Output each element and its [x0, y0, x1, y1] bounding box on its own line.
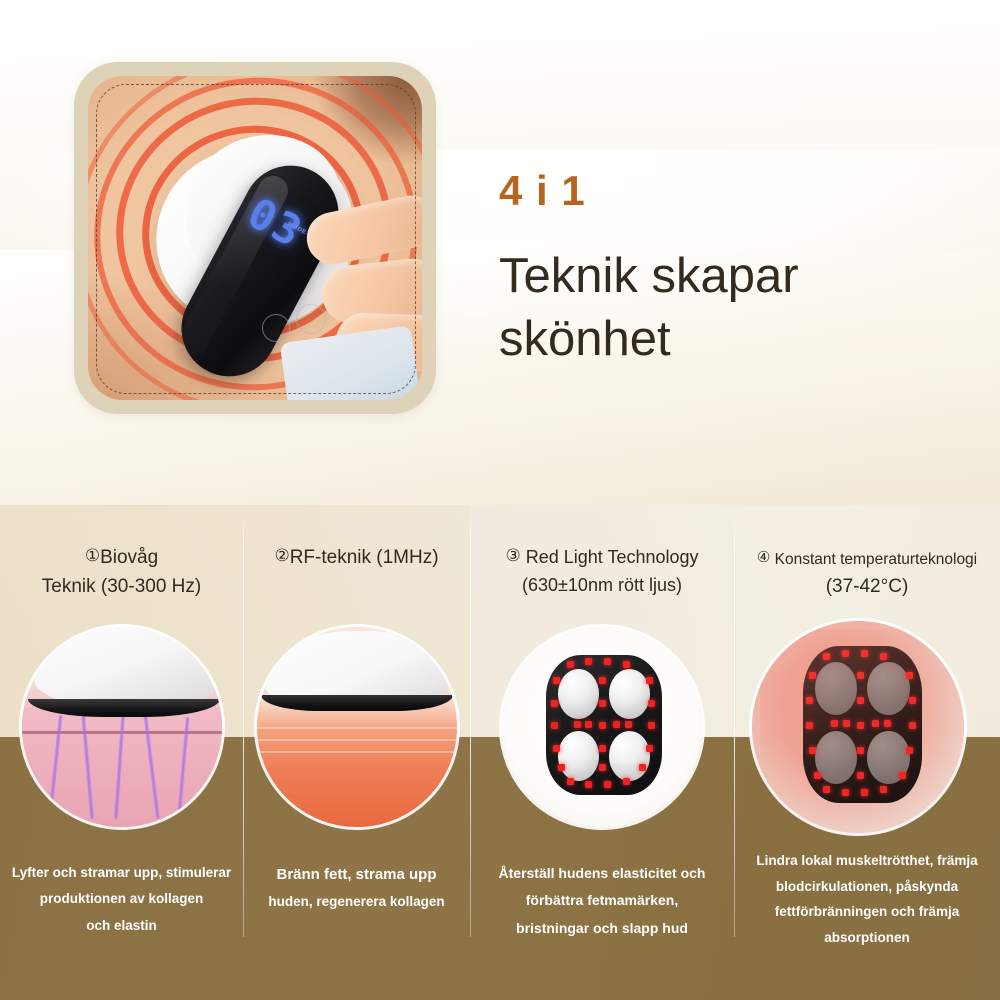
- feature-4-title-line-1: ④ Konstant temperaturteknologi: [740, 546, 994, 572]
- feature-column-1: ①Biovåg Teknik (30-300 Hz) Lyfter och st…: [0, 515, 243, 985]
- warm-tint-overlay: [752, 621, 964, 833]
- red-led-icon: [625, 721, 632, 728]
- feature-3-title: ③ Red Light Technology (630±10nm rött lj…: [470, 515, 734, 600]
- red-led-icon: [551, 700, 558, 707]
- feature-column-4: ④ Konstant temperaturteknologi (37-42°C): [734, 515, 1000, 985]
- red-led-icon: [574, 721, 581, 728]
- red-led-icon: [604, 658, 611, 665]
- heat-ray-line: [257, 751, 457, 753]
- caption-line: Bränn fett, strama upp: [243, 860, 470, 889]
- red-led-icon: [553, 745, 560, 752]
- red-led-icon: [646, 745, 653, 752]
- hero-product-photo: 03 MODE LEVEL TIME: [88, 76, 422, 400]
- feature-column-2: ②RF-teknik (1MHz) Bränn fett, strama upp…: [243, 515, 470, 985]
- caption-line: Lyfter och stramar upp, stimulerar: [0, 860, 243, 886]
- red-led-icon: [558, 764, 565, 771]
- hero-image-frame: 03 MODE LEVEL TIME: [74, 62, 436, 414]
- red-led-icon: [646, 677, 653, 684]
- feature-1-title: ①Biovåg Teknik (30-300 Hz): [0, 515, 243, 602]
- red-led-icon: [599, 700, 606, 707]
- product-infographic: 03 MODE LEVEL TIME 4 i 1 Teknik skapar s…: [0, 0, 1000, 1000]
- feature-3-title-line-2: (630±10nm rött ljus): [476, 572, 728, 600]
- device-led-head: [546, 655, 662, 795]
- feature-4-caption: Lindra lokal muskeltrötthet, främja blod…: [734, 848, 1000, 951]
- page-title: Teknik skapar skönhet: [499, 245, 969, 370]
- red-led-icon: [585, 781, 592, 788]
- red-led-icon: [648, 722, 655, 729]
- red-led-icon: [585, 658, 592, 665]
- red-led-icon: [604, 781, 611, 788]
- feature-1-image: [22, 627, 222, 827]
- red-led-icon: [648, 700, 655, 707]
- caption-line: bristningar och slapp hud: [470, 915, 734, 942]
- red-led-icon: [599, 764, 606, 771]
- feature-3-caption: Återställ hudens elasticitet och förbätt…: [470, 860, 734, 942]
- red-led-icon: [599, 745, 606, 752]
- number-3-icon: ③: [505, 546, 520, 565]
- red-led-icon: [567, 778, 574, 785]
- feature-1-caption: Lyfter och stramar upp, stimulerar produ…: [0, 860, 243, 939]
- caption-line: Lindra lokal muskeltrötthet, främja: [734, 848, 1000, 874]
- red-led-icon: [567, 661, 574, 668]
- red-led-icon: [553, 677, 560, 684]
- metal-disc: [558, 731, 600, 781]
- metal-disc: [609, 731, 651, 781]
- feature-1-title-line-2: Teknik (30-300 Hz): [6, 572, 237, 601]
- heat-ray-line: [257, 727, 457, 729]
- feature-3-title-line-1: ③ Red Light Technology: [476, 543, 728, 572]
- caption-line: förbättra fetmamärken,: [470, 887, 734, 914]
- number-4-icon: ④: [757, 549, 770, 566]
- red-led-icon: [599, 677, 606, 684]
- caption-line: produktionen av kollagen: [0, 886, 243, 912]
- caption-line: huden, regenerera kollagen: [243, 889, 470, 915]
- feature-2-caption: Bränn fett, strama upp huden, regenerera…: [243, 860, 470, 916]
- feature-2-title-line-1: ②RF-teknik (1MHz): [249, 543, 464, 572]
- number-2-icon: ②: [274, 546, 289, 565]
- caption-line: och elastin: [0, 913, 243, 939]
- red-led-icon: [585, 721, 592, 728]
- red-led-icon: [623, 778, 630, 785]
- device-head-base: [261, 695, 453, 711]
- feature-1-title-line-1: ①Biovåg: [6, 543, 237, 572]
- red-led-icon: [639, 764, 646, 771]
- feature-column-3: ③ Red Light Technology (630±10nm rött lj…: [470, 515, 734, 985]
- red-led-icon: [623, 661, 630, 668]
- red-led-icon: [613, 721, 620, 728]
- number-1-icon: ①: [85, 546, 100, 565]
- caption-line: Återställ hudens elasticitet och: [470, 860, 734, 887]
- feature-4-image: [752, 621, 964, 833]
- red-led-icon: [599, 722, 606, 729]
- caption-line: blodcirkulationen, påskynda: [734, 874, 1000, 900]
- metal-disc: [609, 669, 651, 719]
- caption-line: fettförbränningen och främja: [734, 899, 1000, 925]
- feature-4-title: ④ Konstant temperaturteknologi (37-42°C): [734, 515, 1000, 601]
- feature-4-title-line-2: (37-42°C): [740, 572, 994, 601]
- feature-2-image: [257, 627, 457, 827]
- headline-line-2: skönhet: [499, 308, 969, 371]
- caption-line: absorptionen: [734, 925, 1000, 951]
- feature-3-image: [502, 627, 702, 827]
- headline-kicker: 4 i 1: [499, 167, 586, 215]
- feature-2-title: ②RF-teknik (1MHz): [243, 515, 470, 572]
- headline-line-1: Teknik skapar: [499, 245, 969, 308]
- red-led-icon: [551, 722, 558, 729]
- metal-disc: [558, 669, 600, 719]
- heat-ray-line: [257, 739, 457, 741]
